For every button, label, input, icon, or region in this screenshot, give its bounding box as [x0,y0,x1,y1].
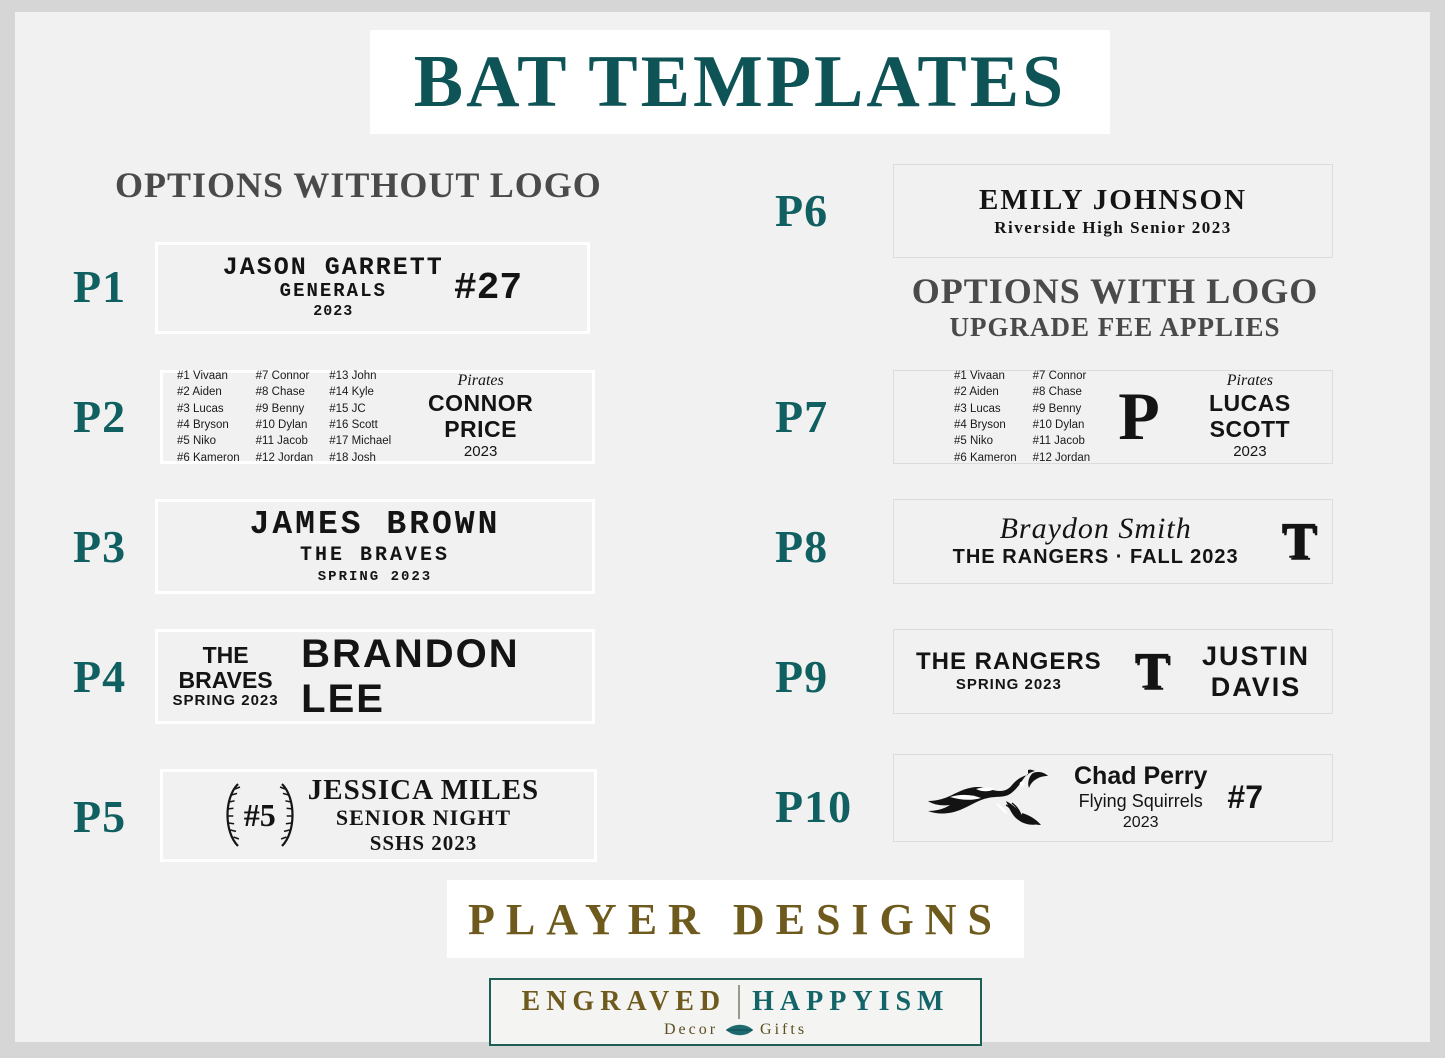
p9-team-name: THE RANGERS [916,649,1102,675]
roster-entry: #2 Aiden [177,384,240,400]
roster-entry: #15 JC [329,401,391,417]
player-designs-band: PLAYER DESIGNS [447,880,1024,958]
template-label-p10: P10 [775,780,852,833]
roster-entry: #18 Josh [329,450,391,466]
p10-team-name: Flying Squirrels [1074,790,1207,813]
p5-event: SENIOR NIGHT [308,805,539,830]
flying-squirrel-logo [910,765,1060,831]
roster-entry: #4 Bryson [177,417,240,433]
page-title-band: BAT TEMPLATES [370,30,1110,134]
roster-entry: #11 Jacob [256,433,314,449]
brand-tagline-decor: Decor [664,1021,718,1039]
roster-entry: #5 Niko [954,433,1017,449]
roster-entry: #8 Chase [1033,384,1091,400]
player-designs-title: PLAYER DESIGNS [468,894,1003,945]
template-card-p1[interactable]: JASON GARRETT GENERALS 2023 #27 [155,242,590,334]
p10-player-name: Chad Perry [1074,763,1207,791]
rangers-t-logo: T [1134,646,1169,698]
p7-roster-col-2: #7 Connor #8 Chase #9 Benny #10 Dylan #1… [1033,368,1091,466]
roster-entry: #12 Jordan [1033,450,1091,466]
p9-season: SPRING 2023 [916,675,1102,695]
template-label-p3: P3 [73,520,126,573]
roster-entry: #14 Kyle [329,384,391,400]
p4-team-name: THE BRAVES [158,643,293,691]
p3-team-name: THE BRAVES [158,543,592,568]
roster-entry: #6 Kameron [177,450,240,466]
page-title: BAT TEMPLATES [414,45,1066,119]
pirates-p-logo: P [1118,389,1160,445]
p10-jersey-number: #7 [1227,779,1263,816]
brand-name-happyism: HAPPYISM [752,986,949,1018]
p3-player-name: JAMES BROWN [158,507,592,543]
baseball-stitch-icon [218,782,244,848]
section-subheading-upgrade-fee: UPGRADE FEE APPLIES [895,312,1335,343]
baseball-stitch-icon [276,782,302,848]
roster-entry: #3 Lucas [177,401,240,417]
template-card-p2[interactable]: #1 Vivaan #2 Aiden #3 Lucas #4 Bryson #5… [160,370,595,464]
roster-entry: #7 Connor [1033,368,1091,384]
template-label-p5: P5 [73,790,126,843]
p8-player-name: Braydon Smith [910,513,1281,545]
template-card-p5[interactable]: #5 JESSICA MILES SENIOR NIGHT SSHS 2023 [160,769,597,862]
template-label-p8: P8 [775,520,828,573]
p5-jersey-number: #5 [244,797,276,834]
p2-team-name: Pirates [405,372,556,390]
p7-team-name: Pirates [1180,372,1320,390]
template-card-p4[interactable]: THE BRAVES SPRING 2023 BRANDON LEE [155,629,595,724]
p2-roster: #1 Vivaan #2 Aiden #3 Lucas #4 Bryson #5… [177,368,391,466]
p1-year: 2023 [223,303,444,321]
rangers-t-logo: T [1281,516,1316,568]
template-label-p1: P1 [73,260,126,313]
roster-entry: #1 Vivaan [954,368,1017,384]
roster-entry: #10 Dylan [1033,417,1091,433]
p7-player-name: LUCAS SCOTT [1180,390,1320,443]
p7-year: 2023 [1180,442,1320,462]
roster-entry: #10 Dylan [256,417,314,433]
roster-entry: #11 Jacob [1033,433,1091,449]
roster-entry: #17 Michael [329,433,391,449]
brand-logo[interactable]: ENGRAVED HAPPYISM Decor Gifts [489,978,982,1046]
brand-tagline-gifts: Gifts [760,1021,807,1039]
p7-roster: #1 Vivaan #2 Aiden #3 Lucas #4 Bryson #5… [954,368,1090,466]
template-card-p10[interactable]: Chad Perry Flying Squirrels 2023 #7 [893,754,1333,842]
page-canvas: BAT TEMPLATES OPTIONS WITHOUT LOGO OPTIO… [15,12,1430,1042]
p3-season: SPRING 2023 [158,568,592,586]
template-card-p6[interactable]: EMILY JOHNSON Riverside High Senior 2023 [893,164,1333,258]
roster-entry: #8 Chase [256,384,314,400]
p6-subtitle: Riverside High Senior 2023 [894,217,1332,239]
p2-player-name: CONNOR PRICE [405,390,556,443]
p6-player-name: EMILY JOHNSON [894,183,1332,218]
roster-entry: #12 Jordan [256,450,314,466]
section-heading-with-logo: OPTIONS WITH LOGO [895,270,1335,312]
brand-name-engraved: ENGRAVED [522,986,727,1018]
p4-season: SPRING 2023 [158,692,293,710]
p1-jersey-number: #27 [454,267,522,310]
p1-player-name: JASON GARRETT [223,255,444,281]
p5-school-year: SSHS 2023 [308,831,539,856]
p2-roster-col-2: #7 Connor #8 Chase #9 Benny #10 Dylan #1… [256,368,314,466]
template-card-p8[interactable]: Braydon Smith THE RANGERS · FALL 2023 T [893,499,1333,584]
template-label-p7: P7 [775,390,828,443]
brand-divider [738,985,740,1019]
p9-player-firstname: JUSTIN [1202,641,1310,671]
template-card-p3[interactable]: JAMES BROWN THE BRAVES SPRING 2023 [155,499,595,594]
roster-entry: #3 Lucas [954,401,1017,417]
p10-year: 2023 [1074,813,1207,834]
leaf-icon [724,1022,754,1038]
roster-entry: #13 John [329,368,391,384]
template-label-p4: P4 [73,650,126,703]
section-heading-without-logo: OPTIONS WITHOUT LOGO [115,164,602,206]
p9-player-lastname: DAVIS [1202,672,1310,702]
template-label-p2: P2 [73,390,126,443]
roster-entry: #7 Connor [256,368,314,384]
roster-entry: #1 Vivaan [177,368,240,384]
p2-year: 2023 [405,442,556,462]
roster-entry: #5 Niko [177,433,240,449]
p1-team-name: GENERALS [223,281,444,303]
template-card-p9[interactable]: THE RANGERS SPRING 2023 T JUSTIN DAVIS [893,629,1333,714]
p2-roster-col-1: #1 Vivaan #2 Aiden #3 Lucas #4 Bryson #5… [177,368,240,466]
roster-entry: #4 Bryson [954,417,1017,433]
template-card-p7[interactable]: #1 Vivaan #2 Aiden #3 Lucas #4 Bryson #5… [893,370,1333,464]
roster-entry: #2 Aiden [954,384,1017,400]
p4-player-name: BRANDON LEE [301,632,592,722]
roster-entry: #9 Benny [256,401,314,417]
roster-entry: #9 Benny [1033,401,1091,417]
p5-number-badge: #5 [218,782,302,848]
p5-player-name: JESSICA MILES [308,775,539,805]
p2-roster-col-3: #13 John #14 Kyle #15 JC #16 Scott #17 M… [329,368,391,466]
p8-subtitle: THE RANGERS · FALL 2023 [910,544,1281,570]
template-label-p6: P6 [775,184,828,237]
roster-entry: #16 Scott [329,417,391,433]
roster-entry: #6 Kameron [954,450,1017,466]
template-label-p9: P9 [775,650,828,703]
p7-roster-col-1: #1 Vivaan #2 Aiden #3 Lucas #4 Bryson #5… [954,368,1017,466]
